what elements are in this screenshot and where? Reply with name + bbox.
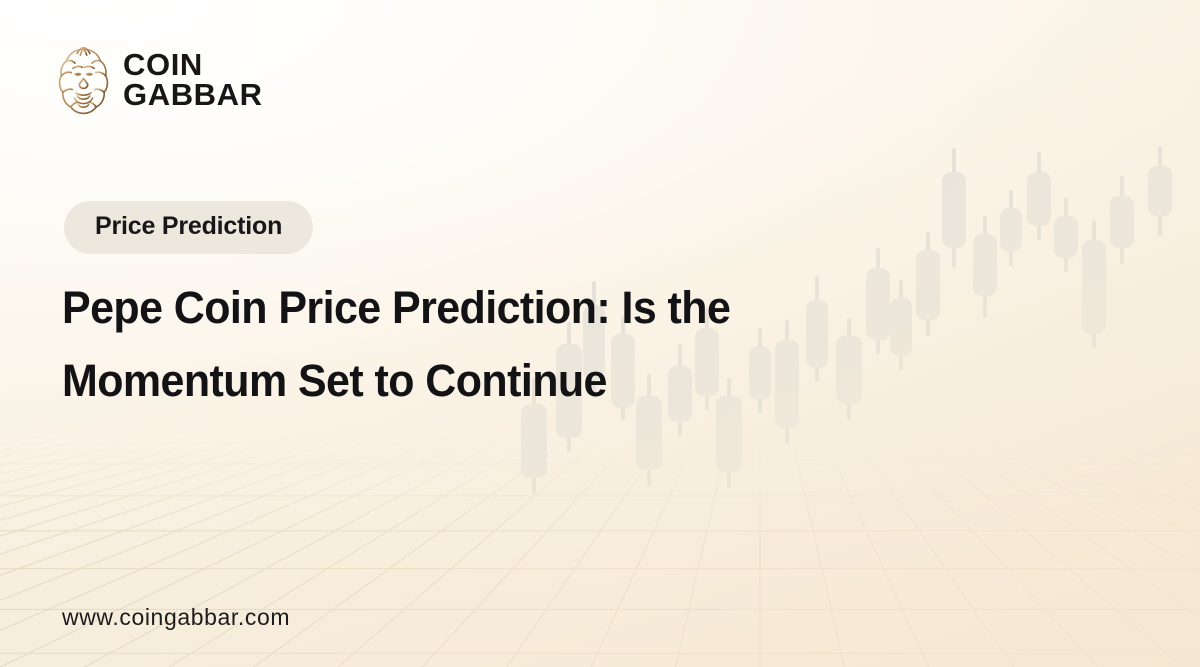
headline-line-1: Pepe Coin Price Prediction: Is the xyxy=(62,272,845,345)
candlestick xyxy=(1148,146,1172,236)
candlestick xyxy=(1054,198,1078,272)
site-url[interactable]: www.coingabbar.com xyxy=(62,604,290,631)
candlestick xyxy=(1000,190,1022,266)
candlestick xyxy=(916,232,940,336)
candlestick xyxy=(1110,176,1134,264)
lion-head-icon xyxy=(57,44,110,116)
brand-wordmark: COIN GABBAR xyxy=(123,50,263,111)
banner-canvas: COIN GABBAR Price Prediction Pepe Coin P… xyxy=(0,0,1200,667)
brand-name-line-2: GABBAR xyxy=(123,80,263,110)
candlestick xyxy=(1027,152,1051,240)
candlestick xyxy=(942,148,966,268)
category-badge-label: Price Prediction xyxy=(95,212,282,240)
category-badge[interactable]: Price Prediction xyxy=(64,201,313,254)
brand-name-line-1: COIN xyxy=(123,50,263,80)
candlestick xyxy=(890,280,912,370)
candlestick xyxy=(866,248,890,354)
candlestick xyxy=(973,216,997,318)
page-title: Pepe Coin Price Prediction: Is the Momen… xyxy=(62,272,845,418)
headline-line-2: Momentum Set to Continue xyxy=(62,345,845,418)
brand-logo[interactable]: COIN GABBAR xyxy=(57,44,263,116)
candlestick xyxy=(1082,220,1106,348)
